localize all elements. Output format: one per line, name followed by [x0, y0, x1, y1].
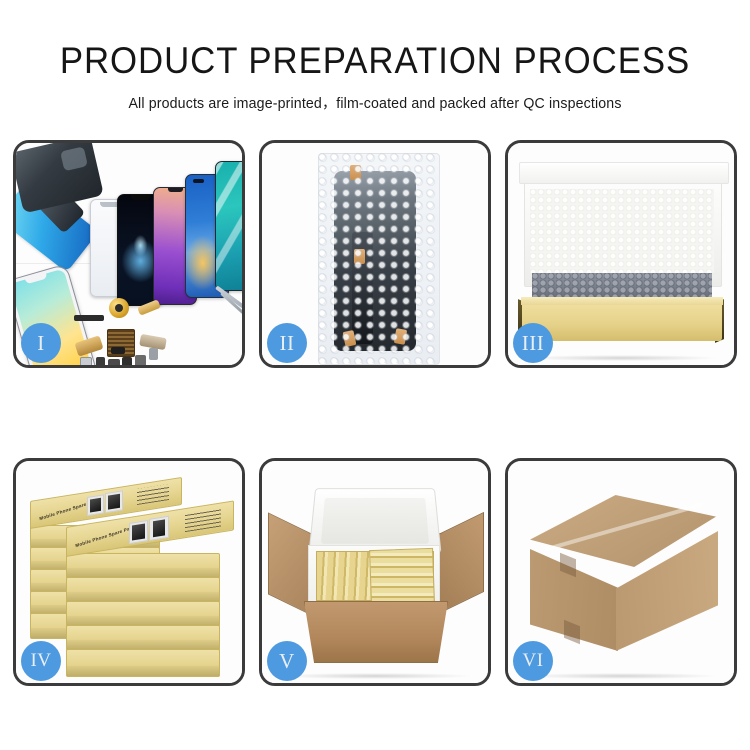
process-step-card-2[interactable]: II — [259, 140, 491, 368]
retail-box-label-front: Mobile Phone Spare Parts — [75, 524, 137, 548]
process-step-grid: I II III — [13, 140, 737, 686]
page-subtitle: All products are image-printed，film-coat… — [6, 79, 745, 113]
retail-box-phone-image-d — [149, 516, 169, 541]
retail-box-phone-image-c — [129, 520, 148, 544]
box-side-face — [67, 666, 219, 676]
small-component-4 — [135, 355, 146, 365]
drop-shadow — [526, 673, 716, 679]
foam-insert-lid — [309, 488, 442, 553]
step-badge-2: II — [267, 323, 307, 363]
phone-display-teal — [215, 161, 242, 291]
lcd-screen-inside-bag — [334, 171, 416, 351]
drop-shadow — [280, 673, 470, 679]
retail-box-front-6 — [66, 649, 220, 677]
small-component-3 — [122, 357, 132, 365]
retail-box-phone-image-b — [105, 490, 123, 513]
retail-box-spec-lines-front — [185, 508, 221, 532]
step-badge-4: IV — [21, 641, 61, 681]
small-component-1 — [96, 357, 105, 365]
retail-box-front-5 — [66, 625, 220, 651]
retail-box-spec-lines-rear — [137, 484, 169, 505]
page-title: PRODUCT PREPARATION PROCESS — [23, 0, 728, 79]
process-step-card-5[interactable]: V — [259, 458, 491, 686]
white-foam-sheet — [530, 189, 714, 273]
retail-box-front-3 — [66, 577, 220, 603]
small-component-6 — [111, 347, 125, 354]
carton-front-panel — [304, 601, 448, 663]
process-step-card-4[interactable]: Mobile Phone Spare Parts Mobile Phone Sp… — [13, 458, 245, 686]
small-component-2 — [108, 359, 120, 365]
small-component-7 — [149, 348, 158, 360]
step-badge-1: I — [21, 323, 61, 363]
step-badge-3: III — [513, 323, 553, 363]
process-step-card-1[interactable]: I — [13, 140, 245, 368]
adhesive-tab-2 — [354, 249, 365, 264]
yellow-box-front-panel — [522, 303, 722, 341]
step-badge-6: VI — [513, 641, 553, 681]
step-badge-5: V — [267, 641, 307, 681]
packed-yellow-boxes-right — [369, 548, 435, 604]
retail-box-phone-image-a — [87, 494, 104, 516]
adhesive-tab-1 — [350, 165, 361, 180]
retail-box-front-4 — [66, 601, 220, 627]
small-component-5 — [80, 357, 92, 365]
page-header: PRODUCT PREPARATION PROCESS All products… — [0, 0, 750, 113]
drop-shadow — [526, 355, 716, 361]
process-step-card-3[interactable]: III — [505, 140, 737, 368]
process-step-card-6[interactable]: VI — [505, 458, 737, 686]
retail-box-stack: Mobile Phone Spare Parts Mobile Phone Sp… — [28, 485, 236, 675]
retail-box-front-2 — [66, 553, 220, 579]
speaker-module-part — [109, 298, 129, 318]
flex-cable-part — [74, 315, 104, 321]
